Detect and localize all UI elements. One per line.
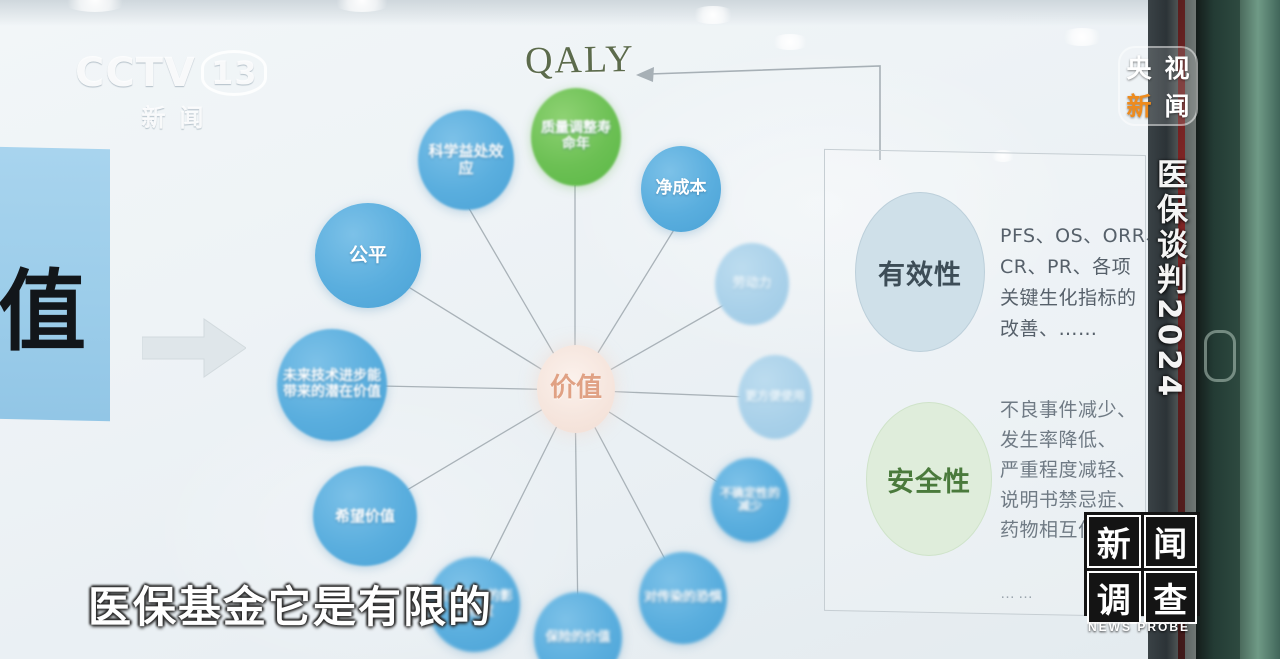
node-label: 劳动力 (732, 277, 771, 292)
node-label: 未来技术进步能带来的潜在价值 (281, 369, 383, 400)
node-label: 公平 (349, 245, 387, 266)
safety-line-1: 不良事件减少、 (1000, 398, 1137, 424)
program-vertical-title: 医保谈判2024 (1150, 158, 1192, 400)
node-net-cost[interactable]: 净成本 (641, 146, 721, 232)
node-center-value[interactable]: 价值 (537, 345, 615, 433)
effectiveness-oval: 有效性 (855, 192, 985, 352)
node-label: 更方便使用 (745, 390, 805, 403)
node-label: 价值 (550, 374, 602, 403)
node-quality-adjusted-life-year[interactable]: 质量调整寿命年 (531, 88, 621, 186)
node-label: 净成本 (656, 179, 707, 198)
cctv-logo-row: CCTV 13 (75, 50, 270, 96)
node-fairness[interactable]: 公平 (315, 203, 421, 308)
safety-line-4: 说明书禁忌症、 (1000, 488, 1137, 514)
node-labour-force[interactable]: 劳动力 (715, 243, 789, 325)
broadcast-subtitle: 医保基金它是有限的 (0, 573, 1148, 635)
effectiveness-line-4: 改善、…… (1000, 317, 1098, 343)
node-ease-of-use[interactable]: 更方便使用 (738, 355, 812, 439)
cctv-logo-text: CCTV (75, 50, 196, 96)
logo-char-2: 视 (1158, 48, 1196, 86)
probe-char-1: 新 (1087, 515, 1141, 568)
probe-char-4: 查 (1144, 571, 1198, 624)
node-label: 质量调整寿命年 (535, 121, 617, 152)
probe-char-2: 闻 (1144, 515, 1198, 568)
effectiveness-line-3: 关键生化指标的 (1000, 286, 1137, 312)
safety-line-2: 发生率降低、 (1000, 428, 1117, 454)
logo-char-4: 闻 (1158, 86, 1196, 124)
cctv-channel-subtitle: 新闻 (75, 98, 270, 133)
cctv-channel-number: 13 (201, 50, 268, 96)
safety-title: 安全性 (887, 460, 971, 499)
effectiveness-line-1: PFS、OS、ORR、 (1000, 224, 1165, 250)
screenshot-root: 值 QALY 质量调整寿命年 科学益处效应 公平 (0, 0, 1280, 659)
effectiveness-line-2: CR、PR、各项 (1000, 255, 1131, 281)
safety-line-3: 严重程度减轻、 (1000, 458, 1137, 484)
logo-char-3: 新 (1120, 86, 1158, 124)
node-label: 不确定性的减少 (715, 487, 785, 514)
cctv-news-app-logo: 央 视 新 闻 (1118, 46, 1198, 126)
node-scientific-benefit-effect[interactable]: 科学益处效应 (418, 110, 514, 210)
door-green-edge (1240, 0, 1280, 659)
node-uncertainty-reduction[interactable]: 不确定性的减少 (711, 458, 789, 542)
cctv-channel-watermark: CCTV 13 新闻 (75, 50, 270, 132)
node-hope-value[interactable]: 希望价值 (313, 466, 417, 566)
node-label: 科学益处效应 (422, 143, 510, 177)
node-label: 希望价值 (335, 508, 395, 525)
safety-oval: 安全性 (866, 402, 992, 556)
logo-char-1: 央 (1120, 48, 1158, 86)
node-future-technology-potential-value[interactable]: 未来技术进步能带来的潜在价值 (277, 329, 387, 441)
door-handle[interactable] (1204, 330, 1236, 382)
effectiveness-title: 有效性 (878, 253, 962, 292)
